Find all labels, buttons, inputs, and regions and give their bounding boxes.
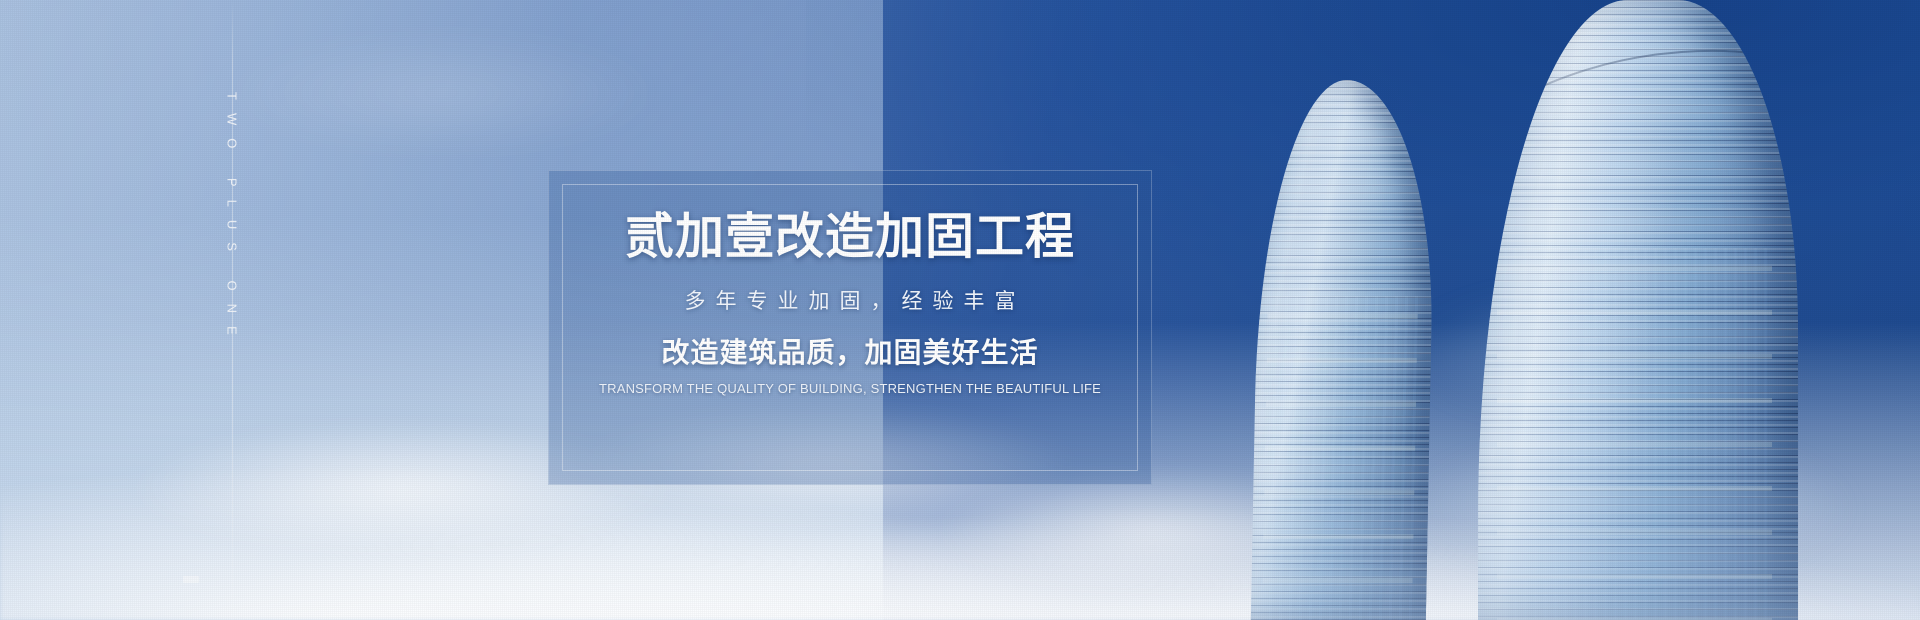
- rail-tick-marker: [183, 576, 199, 583]
- subtitle-text: 多年专业加固，经验丰富: [675, 291, 1026, 312]
- tower-window-lights: [1497, 248, 1772, 620]
- hero-banner: TWO PLUS ONE 贰加壹改造加固工程 多年专业加固，经验丰富 改造建筑品…: [0, 0, 1920, 620]
- skyscraper-right: [1478, 0, 1798, 620]
- page-title: 贰加壹改造加固工程: [625, 213, 1075, 262]
- headline-panel-content: 贰加壹改造加固工程 多年专业加固，经验丰富 改造建筑品质，加固美好生活 TRAN…: [549, 171, 1151, 484]
- cloud-top-left: [192, 12, 691, 173]
- skyscrapers-group: [1220, 0, 1920, 620]
- headline-panel: 贰加壹改造加固工程 多年专业加固，经验丰富 改造建筑品质，加固美好生活 TRAN…: [548, 170, 1152, 485]
- tower-window-lights: [1261, 296, 1418, 620]
- tagline-english: TRANSFORM THE QUALITY OF BUILDING, STREN…: [599, 382, 1101, 395]
- skyscraper-left: [1251, 80, 1436, 620]
- vertical-brand-text: TWO PLUS ONE: [225, 92, 240, 348]
- tagline-chinese: 改造建筑品质，加固美好生活: [661, 339, 1038, 367]
